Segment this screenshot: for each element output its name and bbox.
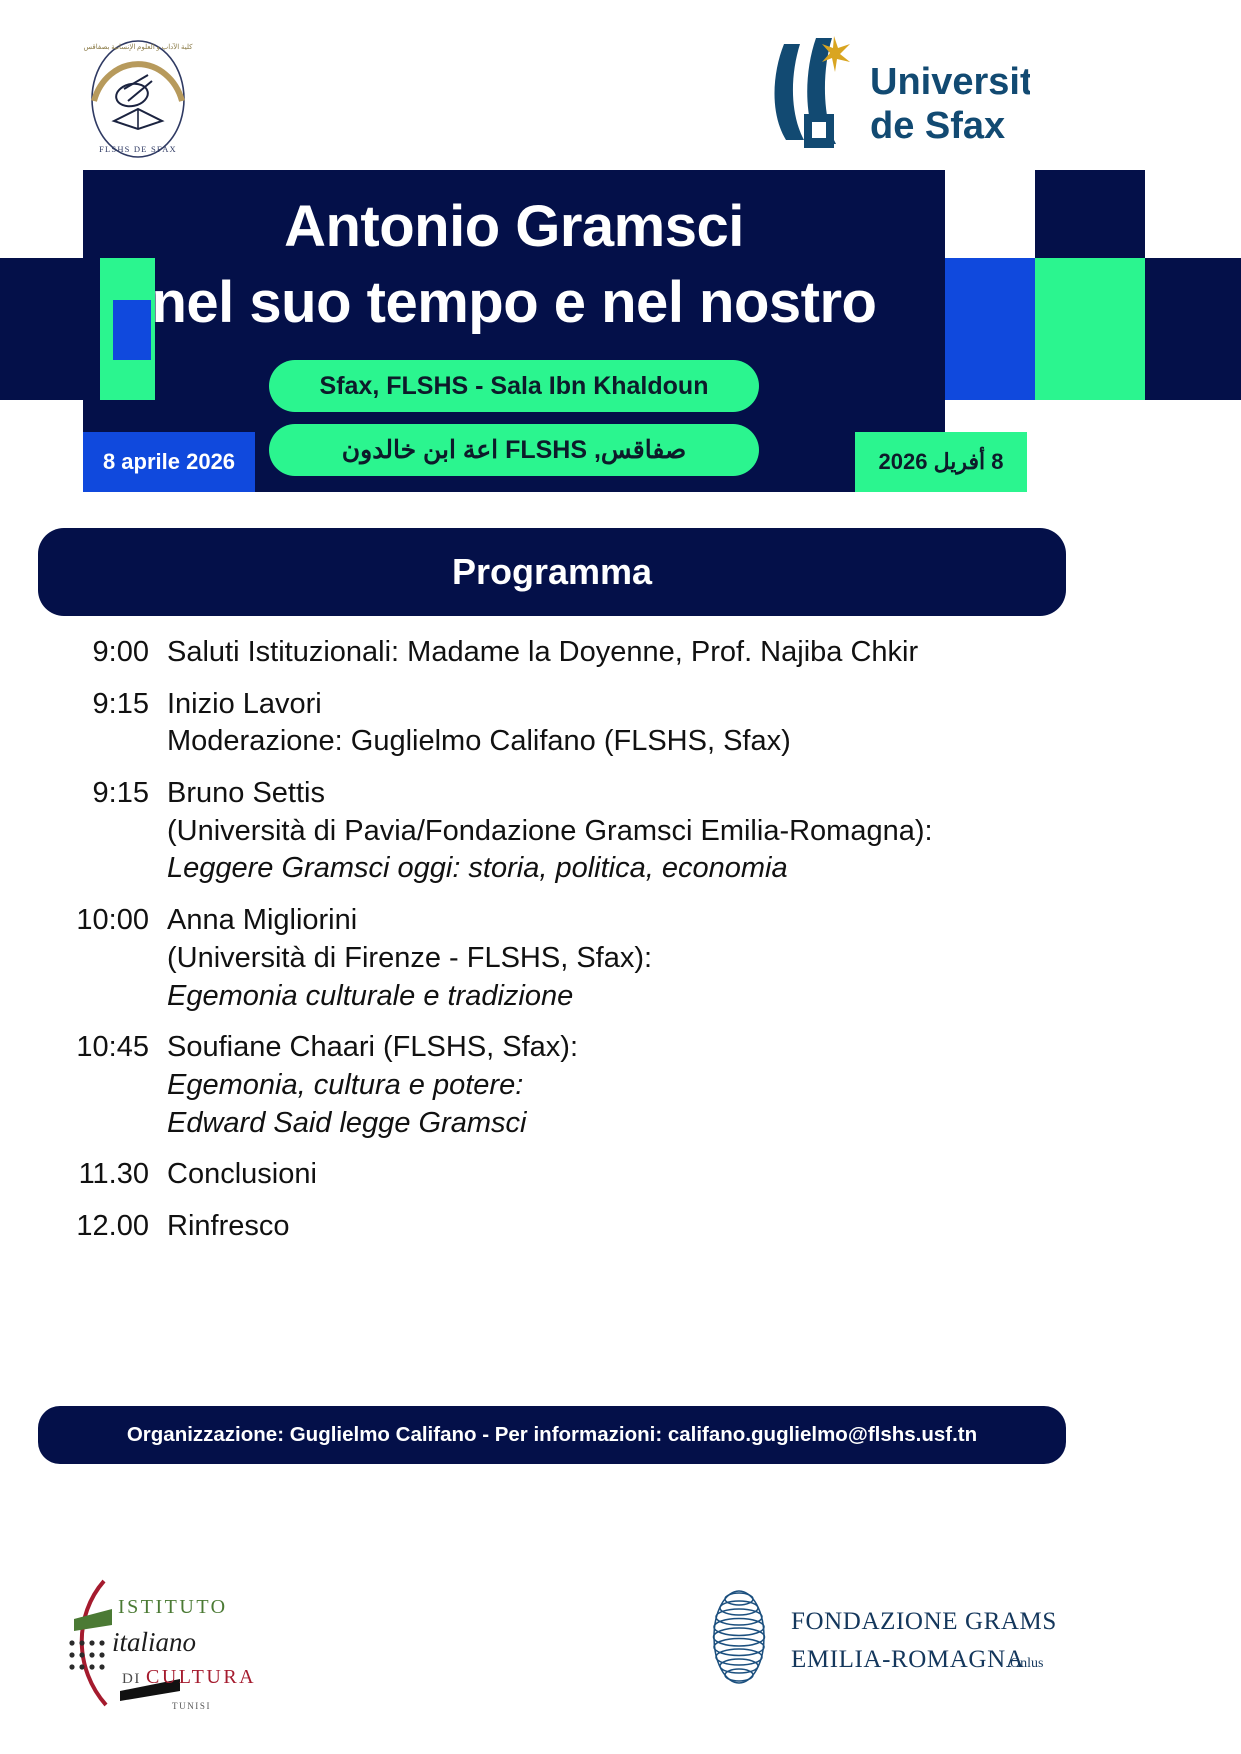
deco-square-left-blue	[113, 300, 151, 360]
schedule-time: 12.00	[55, 1208, 167, 1246]
footer-logo-band: ISTITUTO italiano DI CULTURA TUNISI FOND…	[0, 1540, 1241, 1740]
schedule-row: 10:45Soufiane Chaari (FLSHS, Sfax):Egemo…	[55, 1029, 1125, 1142]
schedule-line: Bruno Settis	[167, 775, 1125, 813]
schedule-row: 9:15Bruno Settis(Università di Pavia/Fon…	[55, 775, 1125, 888]
iic-line3-prefix: DI	[122, 1671, 141, 1687]
schedule-line: (Università di Pavia/Fondazione Gramsci …	[167, 813, 1125, 851]
schedule-line: Soufiane Chaari (FLSHS, Sfax):	[167, 1029, 1125, 1067]
iic-line2: italiano	[112, 1627, 196, 1657]
schedule-row: 9:15Inizio LavoriModerazione: Guglielmo …	[55, 686, 1125, 761]
schedule-talk-title: Egemonia culturale e tradizione	[167, 978, 1125, 1016]
schedule-talk-title: Edward Said legge Gramsci	[167, 1105, 1125, 1143]
schedule-talk-title: Egemonia, cultura e potere:	[167, 1067, 1125, 1105]
programma-heading-bar: Programma	[38, 528, 1066, 616]
deco-square-right-green	[1035, 258, 1145, 400]
schedule-time: 11.30	[55, 1156, 167, 1194]
schedule-row: 10:00Anna Migliorini(Università di Firen…	[55, 902, 1125, 1015]
schedule-row: 11.30Conclusioni	[55, 1156, 1125, 1194]
schedule-line: Inizio Lavori	[167, 686, 1125, 724]
date-badge-arabic: 8 أفريل 2026	[855, 432, 1027, 492]
universite-logo-line2: de Sfax	[870, 105, 1005, 147]
fondazione-suffix: Onlus	[1010, 1656, 1043, 1671]
schedule-description: Inizio LavoriModerazione: Guglielmo Cali…	[167, 686, 1125, 761]
header-logo-band: FLSHS DE SFAX كلية الآداب و العلوم الإنس…	[0, 0, 1241, 175]
schedule-description: Conclusioni	[167, 1156, 1125, 1194]
svg-text:كلية الآداب و العلوم الإنسانية: كلية الآداب و العلوم الإنسانية بصفاقس	[84, 42, 194, 51]
schedule-line: Saluti Istituzionali: Madame la Doyenne,…	[167, 634, 1125, 672]
poster-title-line2: nel suo tempo e nel nostro	[83, 274, 945, 332]
flshs-logo-caption: FLSHS DE SFAX	[99, 144, 177, 154]
schedule-description: Saluti Istituzionali: Madame la Doyenne,…	[167, 634, 1125, 672]
schedule-description: Anna Migliorini(Università di Firenze - …	[167, 902, 1125, 1015]
deco-square-right-blue	[945, 258, 1035, 400]
schedule-line: Rinfresco	[167, 1208, 1125, 1246]
schedule-line: Moderazione: Guglielmo Califano (FLSHS, …	[167, 723, 1125, 761]
schedule-line: Anna Migliorini	[167, 902, 1125, 940]
fondazione-line1: FONDAZIONE GRAMSCI	[791, 1608, 1055, 1635]
schedule-description: Bruno Settis(Università di Pavia/Fondazi…	[167, 775, 1125, 888]
deco-square-right-navy	[1035, 170, 1145, 258]
schedule-description: Rinfresco	[167, 1208, 1125, 1246]
fondazione-gramsci-logo: FONDAZIONE GRAMSCI EMILIA-ROMAGNA Onlus	[705, 1575, 1055, 1695]
schedule-line: (Università di Firenze - FLSHS, Sfax):	[167, 940, 1125, 978]
schedule-row: 12.00Rinfresco	[55, 1208, 1125, 1246]
venue-pill-arabic: صفاقس, FLSHS اعة ابن خالدون	[269, 424, 759, 476]
istituto-italiano-di-cultura-logo: ISTITUTO italiano DI CULTURA TUNISI	[60, 1565, 300, 1715]
hero-title-block: Antonio Gramsci nel suo tempo e nel nost…	[0, 170, 1241, 505]
poster-title-line1: Antonio Gramsci	[83, 198, 945, 256]
schedule-time: 9:15	[55, 775, 167, 813]
date-badge-italian: 8 aprile 2026	[83, 432, 255, 492]
iic-line3: CULTURA	[146, 1666, 256, 1688]
schedule-description: Soufiane Chaari (FLSHS, Sfax):Egemonia, …	[167, 1029, 1125, 1142]
deco-square-right-navy2	[1145, 258, 1241, 400]
schedule-line: Conclusioni	[167, 1156, 1125, 1194]
schedule-row: 9:00Saluti Istituzionali: Madame la Doye…	[55, 634, 1125, 672]
schedule-time: 9:00	[55, 634, 167, 672]
schedule-time: 10:45	[55, 1029, 167, 1067]
schedule-time: 9:15	[55, 686, 167, 724]
universite-logo-line1: Université	[870, 61, 1030, 103]
schedule-talk-title: Leggere Gramsci oggi: storia, politica, …	[167, 850, 1125, 888]
contact-info-bar: Organizzazione: Guglielmo Califano - Per…	[38, 1406, 1066, 1464]
programma-schedule: 9:00Saluti Istituzionali: Madame la Doye…	[55, 634, 1125, 1260]
iic-city: TUNISI	[172, 1701, 211, 1711]
flshs-sfax-logo: FLSHS DE SFAX كلية الآداب و العلوم الإنس…	[78, 35, 198, 160]
schedule-time: 10:00	[55, 902, 167, 940]
universite-de-sfax-logo: Université de Sfax	[760, 22, 1030, 162]
fondazione-line2: EMILIA-ROMAGNA	[791, 1646, 1024, 1673]
venue-pill-italian: Sfax, FLSHS - Sala Ibn Khaldoun	[269, 360, 759, 412]
iic-line1: ISTITUTO	[118, 1596, 228, 1618]
